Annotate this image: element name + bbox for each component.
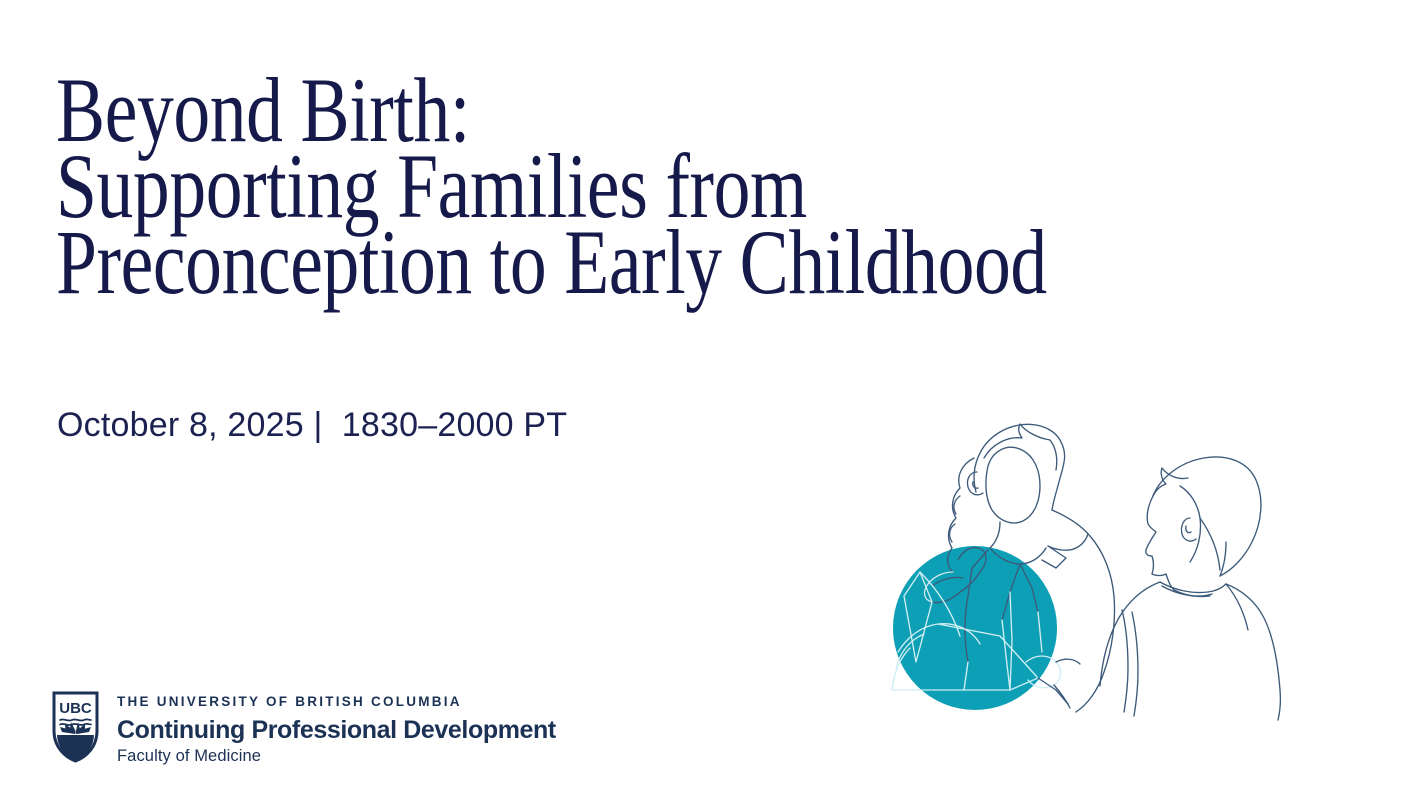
presentation-slide: Beyond Birth: Supporting Families from P… [0, 0, 1408, 803]
title-line-3: Preconception to Early Childhood [56, 224, 1080, 300]
svg-text:UBC: UBC [59, 700, 92, 717]
ubc-crest-icon: UBC [52, 691, 99, 763]
page-title: Beyond Birth: Supporting Families from P… [56, 72, 1336, 300]
ubc-university-name: THE UNIVERSITY OF BRITISH COLUMBIA [117, 694, 556, 710]
ubc-logo: UBC THE UNIVERSITY OF BR [52, 691, 556, 767]
two-people-line-art-illustration [860, 400, 1290, 730]
ubc-faculty-name: Faculty of Medicine [117, 746, 556, 767]
event-date-time: October 8, 2025 | 1830–2000 PT [57, 406, 567, 445]
teal-accent-circle [893, 546, 1057, 710]
ubc-logo-text: THE UNIVERSITY OF BRITISH COLUMBIA Conti… [117, 691, 556, 767]
ubc-unit-name: Continuing Professional Development [117, 715, 556, 746]
